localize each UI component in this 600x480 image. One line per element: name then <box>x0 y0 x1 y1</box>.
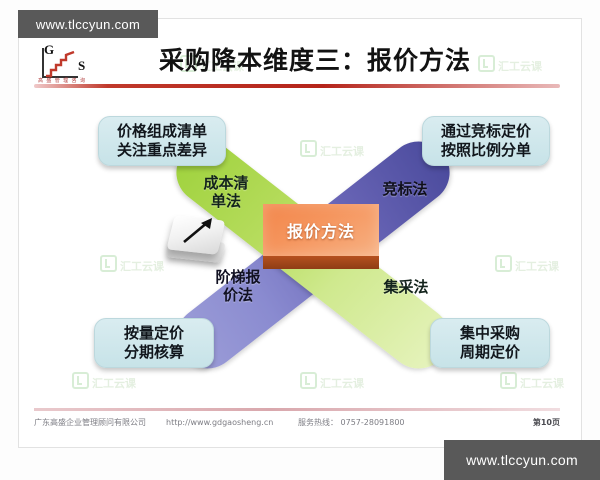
arrow-keycap-icon <box>166 214 228 272</box>
footer-company: 广东高盛企业管理顾问有限公司 <box>34 417 166 428</box>
footer-hotline: 服务热线： 0757-28091800 <box>298 417 468 428</box>
diagram-center-cube: 报价方法 <box>263 204 379 278</box>
slide-canvas: 汇工云课 汇工云课 汇工云课 汇工云课 汇工云课 汇工云课 汇工云课 汇工云课 … <box>0 0 600 480</box>
watermark-logo-icon <box>478 55 495 72</box>
watermark-top-banner: www.tlccyun.com <box>18 10 158 38</box>
arrow-up-right-icon <box>178 216 222 250</box>
callout-bottom-right[interactable]: 集中采购 周期定价 <box>430 318 550 368</box>
arm-label-group-purchase-method: 集采法 <box>370 278 442 296</box>
slide-footer: 广东高盛企业管理顾问有限公司 http://www.gdgaosheng.cn … <box>34 414 560 430</box>
footer-divider <box>34 408 560 411</box>
page-title: 采购降本维度三：报价方法 <box>150 44 480 78</box>
arm-label-bidding-method: 竞标法 <box>368 180 442 198</box>
arm-label-cost-list-method: 成本清 单法 <box>188 174 264 210</box>
watermark-bottom-banner: www.tlccyun.com <box>444 440 600 480</box>
company-logo: G S 高 盛 管 理 咨 询 <box>34 44 96 86</box>
logo-letter-g: G <box>44 42 54 58</box>
center-label: 报价方法 <box>263 204 379 256</box>
quotation-methods-diagram: 成本清 单法 竞标法 阶梯报 价法 集采法 报价方法 价格组成清单 关注重点差异… <box>18 96 582 396</box>
footer-page-number: 第10页 <box>468 417 560 428</box>
callout-top-right[interactable]: 通过竞标定价 按照比例分单 <box>422 116 550 166</box>
logo-letter-s: S <box>78 58 85 74</box>
callout-bottom-left[interactable]: 按量定价 分期核算 <box>94 318 214 368</box>
cube-front-face <box>263 256 379 269</box>
title-divider <box>34 84 560 88</box>
callout-top-left[interactable]: 价格组成清单 关注重点差异 <box>98 116 226 166</box>
logo-subtitle: 高 盛 管 理 咨 询 <box>38 77 86 84</box>
footer-url[interactable]: http://www.gdgaosheng.cn <box>166 418 298 427</box>
watermark-text: 汇工云课 <box>498 60 542 73</box>
background-watermark: 汇工云课 <box>478 55 542 74</box>
